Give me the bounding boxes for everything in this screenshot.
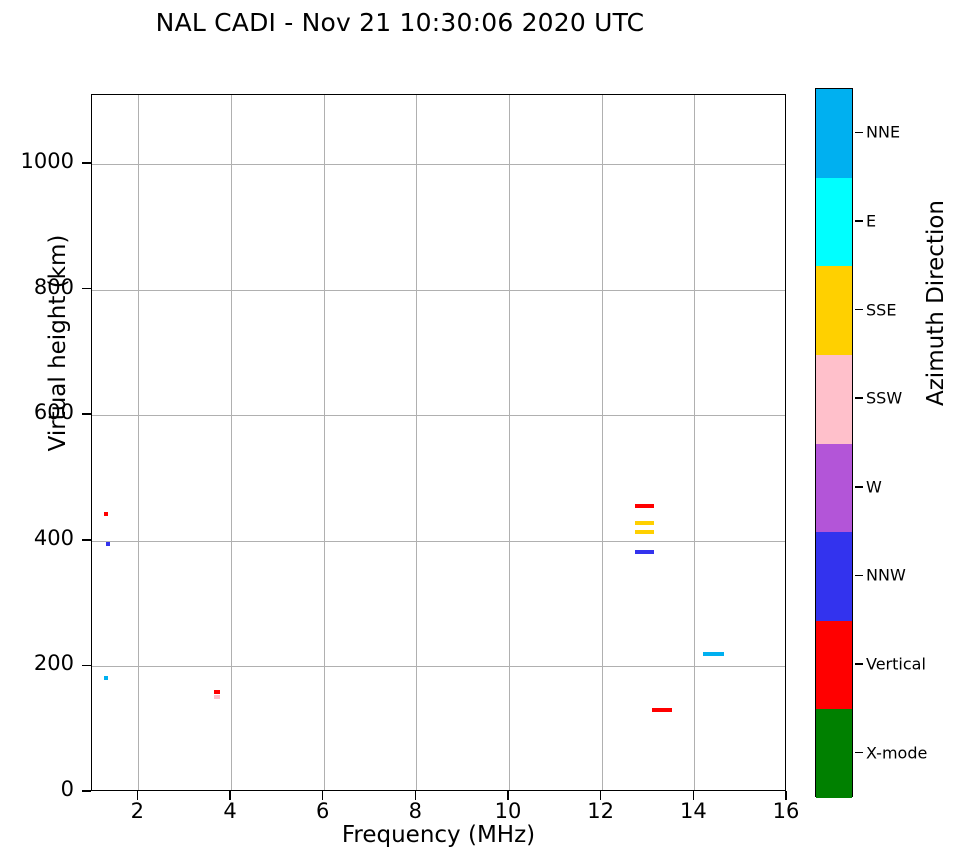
x-tick-label: 14 (673, 799, 713, 823)
y-axis-label: Virtual height (km) (45, 193, 71, 493)
ionogram-chart: NAL CADI - Nov 21 10:30:06 2020 UTC 0200… (0, 0, 958, 857)
colorbar-label-ssw: SSW (866, 389, 902, 408)
y-tick-label: 200 (34, 651, 74, 675)
plot-area (91, 94, 786, 791)
x-axis-label: Frequency (MHz) (91, 822, 786, 848)
colorbar-label-w: W (866, 477, 882, 496)
y-tick (82, 288, 91, 290)
data-point (106, 542, 110, 546)
y-tick-label: 1000 (21, 149, 74, 173)
colorbar-tick (855, 309, 863, 311)
data-point (104, 512, 108, 516)
colorbar-segment-sse (816, 266, 852, 355)
data-point (635, 504, 654, 508)
x-tick-label: 16 (766, 799, 806, 823)
colorbar-label-x-mode: X-mode (866, 743, 927, 762)
y-tick (82, 790, 91, 792)
colorbar-segment-e (816, 178, 852, 267)
colorbar-label-nnw: NNW (866, 566, 906, 585)
colorbar-label-nne: NNE (866, 123, 900, 142)
data-point (635, 530, 654, 534)
colorbar-tick (855, 486, 863, 488)
colorbar-tick (855, 752, 863, 754)
y-tick (82, 413, 91, 415)
chart-title: NAL CADI - Nov 21 10:30:06 2020 UTC (0, 8, 800, 37)
colorbar-segment-ssw (816, 355, 852, 444)
data-point (214, 695, 220, 699)
colorbar-segment-nne (816, 89, 852, 178)
x-tick-label: 4 (210, 799, 250, 823)
data-points-layer (92, 95, 785, 790)
data-point (703, 652, 724, 656)
colorbar-tick (855, 663, 863, 665)
colorbar-tick (855, 132, 863, 134)
data-point (635, 521, 654, 525)
x-tick-label: 2 (117, 799, 157, 823)
colorbar-segment-x-mode (816, 709, 852, 798)
colorbar-segment-w (816, 444, 852, 533)
data-point (214, 690, 220, 694)
x-tick-label: 8 (395, 799, 435, 823)
colorbar-segment-vertical (816, 621, 852, 710)
x-tick-label: 10 (488, 799, 528, 823)
x-tick-label: 6 (303, 799, 343, 823)
data-point (635, 550, 654, 554)
colorbar-tick (855, 575, 863, 577)
colorbar-azimuth (815, 88, 853, 797)
y-tick (82, 665, 91, 667)
colorbar-title: Azimuth Direction (923, 153, 949, 453)
colorbar-label-e: E (866, 211, 876, 230)
colorbar-label-vertical: Vertical (866, 655, 926, 674)
y-tick (82, 162, 91, 164)
colorbar-tick (855, 220, 863, 222)
x-tick-label: 12 (581, 799, 621, 823)
y-tick (82, 539, 91, 541)
y-tick-label: 0 (61, 777, 74, 801)
y-tick-label: 400 (34, 526, 74, 550)
colorbar-label-sse: SSE (866, 300, 896, 319)
data-point (652, 708, 671, 712)
data-point (104, 676, 108, 680)
colorbar-segment-nnw (816, 532, 852, 621)
colorbar-tick (855, 397, 863, 399)
